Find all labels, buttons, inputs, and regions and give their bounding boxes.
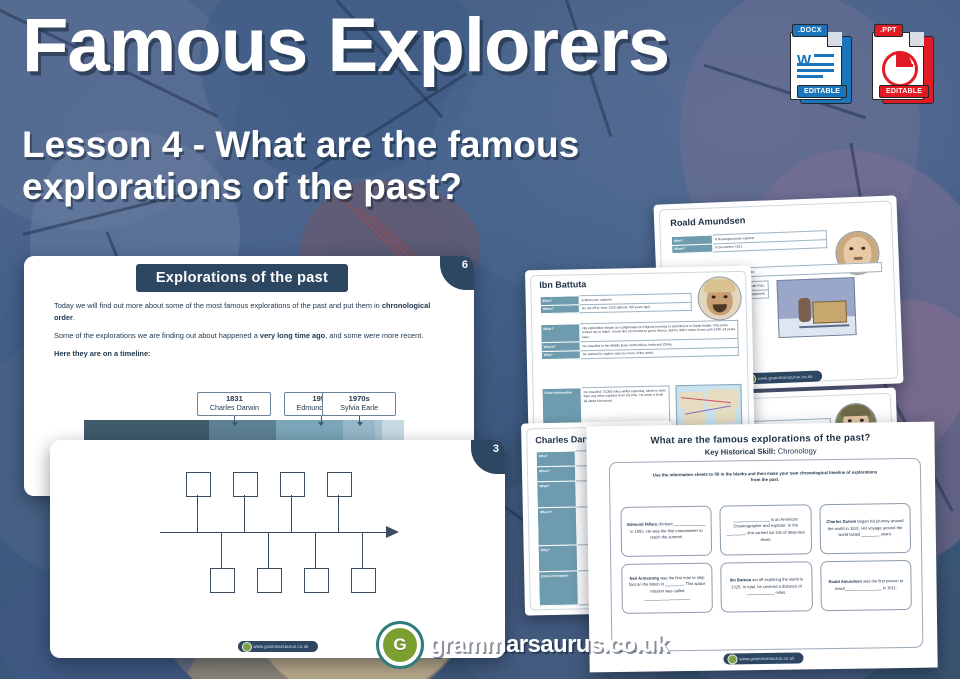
timeline-label-sylvia-earle: 1970sSylvia Earle: [322, 392, 396, 416]
timeline-stem: [362, 533, 363, 569]
doc-line: [797, 63, 834, 66]
footer-url-worksheet: www.grammarsaurus.co.uk: [723, 652, 803, 664]
card-table-battuta: Who?A Moroccan explorer When?He set off …: [540, 293, 692, 315]
timeline-blank-box[interactable]: [257, 568, 282, 593]
timeline-blank-box[interactable]: [351, 568, 376, 593]
timeline-stem: [244, 495, 245, 533]
timeline-blank-box[interactable]: [280, 472, 305, 497]
timeline-arrow-icon: [386, 526, 399, 538]
worksheet-skill-label: Key Historical Skill:: [705, 447, 776, 457]
worksheet-cell-5[interactable]: Ibn Battuta set off exploring the world …: [721, 561, 813, 612]
blank-timeline-diagram: [160, 468, 410, 600]
timeline-stem: [291, 495, 292, 533]
poster-canvas: Famous Explorers Lesson 4 - What are the…: [0, 0, 960, 679]
worksheet-cell-3[interactable]: Charles Darwin began his journey around …: [819, 503, 911, 554]
card-table-battuta-main: What?His exploration began as a pilgrima…: [540, 320, 739, 360]
docx-badge[interactable]: W .DOCX EDITABLE: [790, 28, 852, 104]
doc-line: [814, 54, 834, 57]
slide-title: Explorations of the past: [156, 270, 328, 286]
worksheet-heading: What are the famous explorations of the …: [586, 432, 934, 459]
ppt-extension-label: .PPT: [874, 24, 903, 37]
worksheet-instructions: Use the information sheets to fill in th…: [650, 469, 880, 485]
timeline-label-name: Sylvia Earle: [323, 404, 395, 413]
footer-url-amundsen: www.grammarsaurus.co.uk: [741, 370, 821, 384]
slide-number-badge: 3: [471, 440, 505, 474]
timeline-blank-box[interactable]: [233, 472, 258, 497]
timeline-stem: [315, 533, 316, 569]
docx-editable-label: EDITABLE: [797, 85, 847, 98]
slide-title-bar: Explorations of the past: [136, 264, 348, 292]
docx-extension-label: .DOCX: [792, 24, 828, 37]
timeline-blank-box[interactable]: [304, 568, 329, 593]
logo-letter: G: [393, 635, 406, 655]
timeline-stem: [221, 533, 222, 569]
grammarsaurus-logo[interactable]: G grammarsaurus.co.uk: [376, 621, 668, 669]
worksheet-cell-text: Neil Armstrong was the first man to step…: [627, 575, 707, 603]
timeline-stem: [197, 495, 198, 533]
worksheet-cell-1[interactable]: Edmund Hillary climbed ______________ in…: [620, 506, 712, 557]
worksheet-cell-text: Edmund Hillary climbed ______________ in…: [627, 521, 707, 542]
worksheet-answer-grid: Edmund Hillary climbed ______________ in…: [620, 503, 911, 614]
footer-url-slide3: www.grammarsaurus.co.uk: [237, 641, 317, 652]
ppt-badge[interactable]: .PPT EDITABLE: [872, 28, 934, 104]
timeline-stem: [268, 533, 269, 569]
word-w-icon: W: [797, 53, 811, 68]
timeline-tick: [234, 416, 235, 422]
portrait-battuta-icon: [697, 276, 742, 321]
slide-paragraph-2: Some of the explorations we are finding …: [54, 330, 448, 342]
page-fold-icon: [827, 32, 842, 47]
timeline-axis: [160, 532, 388, 533]
worksheet-cell-6[interactable]: Roald Amundsen was the first person to r…: [820, 560, 912, 611]
page-fold-icon: [909, 32, 924, 47]
timeline-tick: [321, 416, 322, 422]
pie-chart-radius-icon: [896, 64, 913, 67]
worksheet-cell-text: Charles Darwin began his journey around …: [825, 518, 905, 539]
timeline-blank-box[interactable]: [186, 472, 211, 497]
doc-line: [797, 69, 834, 72]
timeline-blank-box[interactable]: [327, 472, 352, 497]
timeline-stem: [338, 495, 339, 533]
timeline-label-charles-darwin: 1831Charles Darwin: [197, 392, 271, 416]
doc-line: [797, 75, 823, 78]
grammarsaurus-mark-icon: G: [376, 621, 424, 669]
timeline-label-name: Charles Darwin: [198, 404, 270, 413]
card-title-battuta: Ibn Battuta: [539, 279, 586, 290]
slide-paragraph-3: Here they are on a timeline:: [54, 348, 448, 360]
slide-body: Today we will find out more about some o…: [54, 300, 448, 366]
slide-paragraph-1: Today we will find out more about some o…: [54, 300, 448, 324]
worksheet-cell-text: ________________ is an American Oceanogr…: [726, 516, 806, 544]
ppt-editable-label: EDITABLE: [879, 85, 929, 98]
worksheet-cell-text: Ibn Battuta set off exploring the world …: [727, 576, 807, 597]
worksheet-cell-text: Roald Amundsen was the first person to r…: [826, 578, 906, 592]
sledge-illustration: [776, 277, 856, 338]
pie-chart-radius-icon: [896, 52, 899, 66]
timeline-blank-box[interactable]: [210, 568, 235, 593]
worksheet-cell-4[interactable]: Neil Armstrong was the first man to step…: [621, 563, 713, 614]
slide-number-badge: 6: [440, 256, 474, 290]
worksheet-cell-2[interactable]: ________________ is an American Oceanogr…: [720, 504, 812, 555]
timeline-tick: [359, 416, 360, 422]
worksheet-skill-value: Chronology: [778, 446, 817, 456]
logo-wordmark: grammarsaurus.co.uk: [429, 631, 668, 659]
